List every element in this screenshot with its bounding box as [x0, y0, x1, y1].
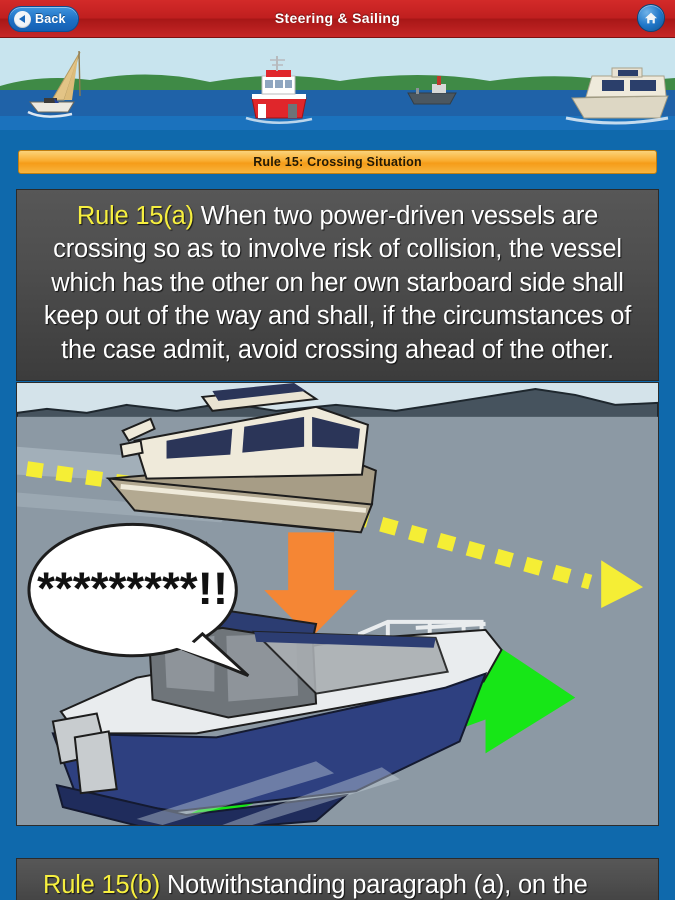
speech-bubble-text: *********!!: [37, 563, 228, 614]
navigation-bar: Back Steering & Sailing: [0, 0, 675, 38]
section-title-bar: Rule 15: Crossing Situation: [18, 150, 657, 174]
rule-15b-body: Notwithstanding paragraph (a), on the: [160, 871, 588, 899]
rule-15a-label: Rule 15(a): [77, 202, 194, 230]
illustration-scene: *********!!: [17, 383, 658, 825]
page-title: Steering & Sailing: [0, 10, 675, 26]
rule-15a-text: Rule 15(a) When two power-driven vessels…: [29, 200, 646, 367]
rule-15a-panel: Rule 15(a) When two power-driven vessels…: [16, 189, 659, 381]
rule-15b-text: Rule 15(b) Notwithstanding paragraph (a)…: [29, 869, 646, 900]
app-root: Back Steering & Sailing: [0, 0, 675, 900]
banner-image: [0, 38, 675, 130]
rule-15b-panel: Rule 15(b) Notwithstanding paragraph (a)…: [16, 858, 659, 900]
home-icon: [643, 10, 659, 26]
crossing-situation-illustration: *********!!: [16, 382, 659, 826]
rule-15b-label: Rule 15(b): [43, 871, 160, 899]
section-title-label: Rule 15: Crossing Situation: [253, 155, 422, 169]
home-button[interactable]: [637, 4, 665, 32]
banner-scene: [0, 38, 675, 130]
